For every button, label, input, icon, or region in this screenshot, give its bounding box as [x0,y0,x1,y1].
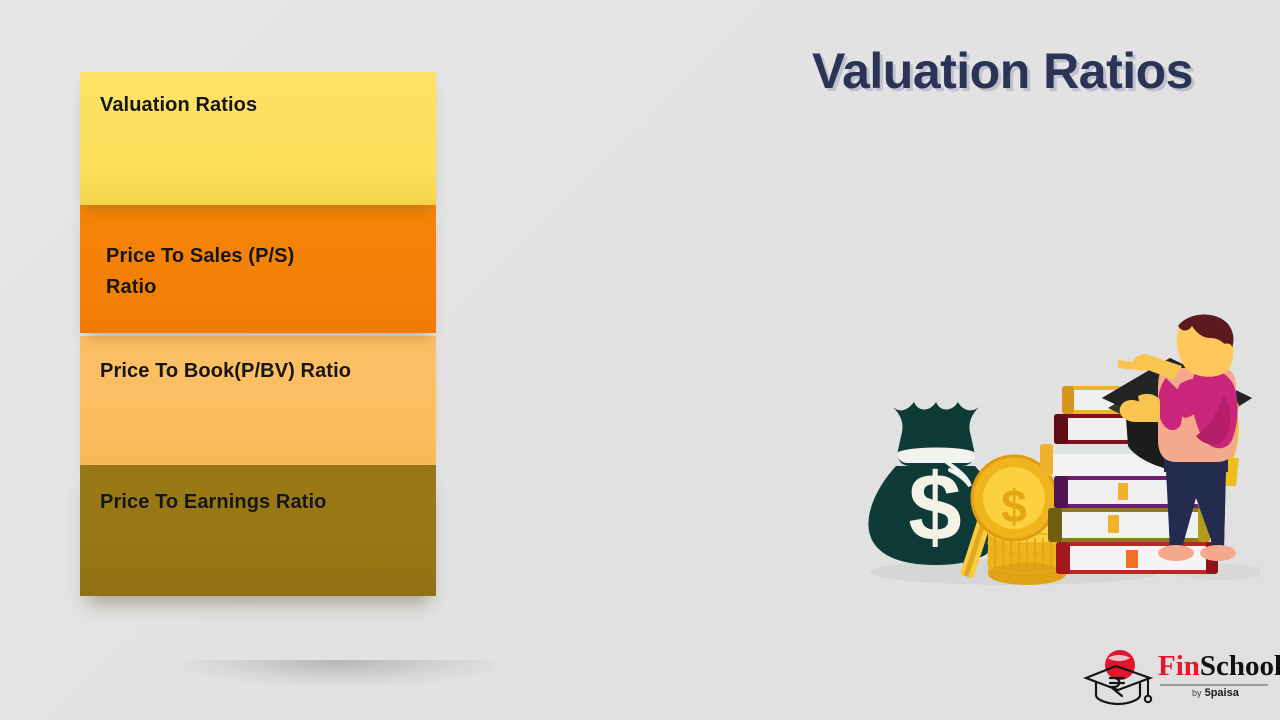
finschool-logo[interactable]: FinSchool by 5paisa [1080,648,1270,710]
logo-divider [1160,684,1268,686]
block-valuation-ratios[interactable]: Valuation Ratios [80,72,436,205]
stack-drop-shadow [184,660,494,686]
block-label-price-to-earnings: Price To Earnings Ratio [100,487,416,518]
logo-wordmark: FinSchool [1158,652,1280,681]
block-price-to-earnings[interactable]: Price To Earnings Ratio [80,465,436,596]
slide-canvas: Valuation Ratios Valuation Ratios Price … [0,0,1280,720]
ratio-block-stack: Valuation Ratios Price To Sales (P/S) Ra… [80,72,436,596]
logo-word-school: School [1200,650,1280,682]
finance-education-illustration: $ [840,310,1260,600]
block-label-valuation-ratios: Valuation Ratios [100,90,416,121]
block-label-price-to-sales: Price To Sales (P/S) Ratio [100,241,336,303]
logo-brand-5paisa: 5paisa [1205,687,1239,699]
logo-tagline: by 5paisa [1192,687,1239,699]
block-price-to-book[interactable]: Price To Book(P/BV) Ratio [80,336,436,465]
graduation-cap-rupee-icon [1080,648,1156,706]
money-bag-dollar-symbol: $ [908,454,961,561]
logo-by-text: by [1192,688,1202,698]
page-title: Valuation Ratios [812,44,1252,99]
block-label-price-to-book: Price To Book(P/BV) Ratio [100,356,416,387]
block-price-to-sales[interactable]: Price To Sales (P/S) Ratio [80,205,436,333]
logo-word-fin: Fin [1158,650,1200,682]
coin-dollar-symbol: $ [1001,480,1027,532]
